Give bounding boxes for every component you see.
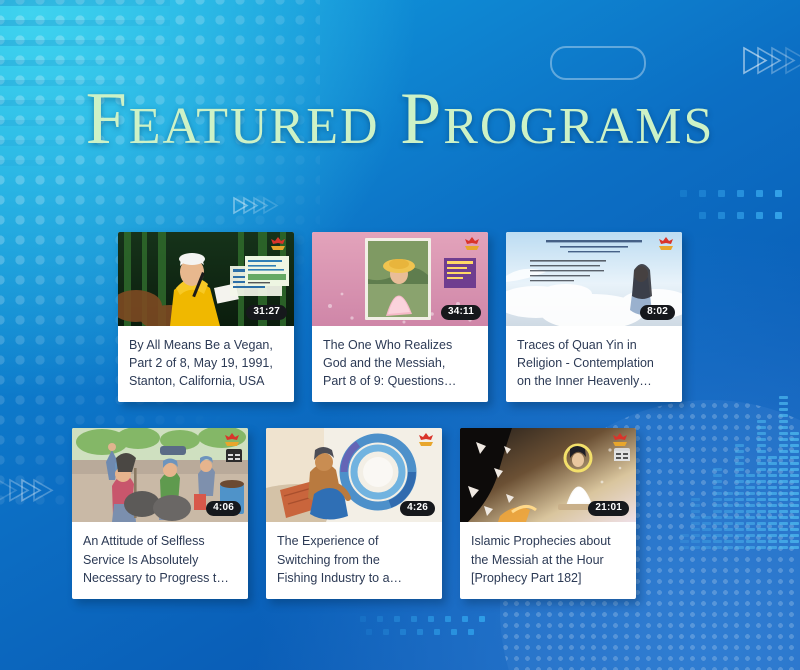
channel-logo-icon	[416, 432, 436, 448]
card-meta: The Experience of Switching from the Fis…	[266, 522, 442, 598]
duration-badge: 31:27	[246, 305, 287, 320]
page-title: Featured Programs	[0, 82, 800, 156]
card-title: Islamic Prophecies about the Messiah at …	[471, 532, 625, 586]
card-thumbnail[interactable]: 8:02	[506, 232, 682, 326]
thumbnail-overlay-tag	[226, 449, 242, 459]
program-card[interactable]: 4:06 An Attitude of Selfless Service Is …	[72, 428, 248, 598]
card-thumbnail[interactable]: 34:11	[312, 232, 488, 326]
channel-logo-icon	[268, 236, 288, 252]
card-title: Traces of Quan Yin in Religion - Contemp…	[517, 336, 671, 390]
card-title: The One Who Realizes God and the Messiah…	[323, 336, 477, 390]
card-title: The Experience of Switching from the Fis…	[277, 532, 431, 586]
channel-logo-icon	[462, 236, 482, 252]
card-meta: Islamic Prophecies about the Messiah at …	[460, 522, 636, 598]
card-thumbnail[interactable]: 31:27	[118, 232, 294, 326]
channel-logo-icon	[656, 236, 676, 252]
program-card[interactable]: 8:02 Traces of Quan Yin in Religion - Co…	[506, 232, 682, 402]
duration-badge: 4:06	[206, 501, 241, 516]
programs-row-1: 31:27 By All Means Be a Vegan, Part 2 of…	[0, 232, 800, 402]
channel-logo-icon	[610, 432, 630, 448]
card-thumbnail[interactable]: 4:26	[266, 428, 442, 522]
card-title: By All Means Be a Vegan, Part 2 of 8, Ma…	[129, 336, 283, 390]
duration-badge: 21:01	[588, 501, 629, 516]
programs-row-2: 4:06 An Attitude of Selfless Service Is …	[0, 428, 800, 598]
program-card[interactable]: 4:26 The Experience of Switching from th…	[266, 428, 442, 598]
featured-programs-banner: Featured Programs	[0, 0, 800, 670]
card-meta: An Attitude of Selfless Service Is Absol…	[72, 522, 248, 598]
duration-badge: 8:02	[640, 305, 675, 320]
card-meta: By All Means Be a Vegan, Part 2 of 8, Ma…	[118, 326, 294, 402]
card-meta: The One Who Realizes God and the Messiah…	[312, 326, 488, 402]
pill-outline-shape	[550, 46, 646, 80]
thumbnail-overlay-tag	[614, 448, 630, 458]
card-title: An Attitude of Selfless Service Is Absol…	[83, 532, 237, 586]
channel-logo-icon	[222, 432, 242, 448]
program-card[interactable]: 31:27 By All Means Be a Vegan, Part 2 of…	[118, 232, 294, 402]
program-card[interactable]: 21:01 Islamic Prophecies about the Messi…	[460, 428, 636, 598]
duration-badge: 4:26	[400, 501, 435, 516]
pixel-squares-bottom	[360, 616, 600, 652]
programs-grid: 31:27 By All Means Be a Vegan, Part 2 of…	[0, 232, 800, 599]
card-thumbnail[interactable]: 21:01	[460, 428, 636, 522]
program-card[interactable]: 34:11 The One Who Realizes God and the M…	[312, 232, 488, 402]
card-thumbnail[interactable]: 4:06	[72, 428, 248, 522]
thumbnail-overlay-card	[245, 256, 289, 286]
card-meta: Traces of Quan Yin in Religion - Contemp…	[506, 326, 682, 402]
duration-badge: 34:11	[441, 305, 481, 320]
